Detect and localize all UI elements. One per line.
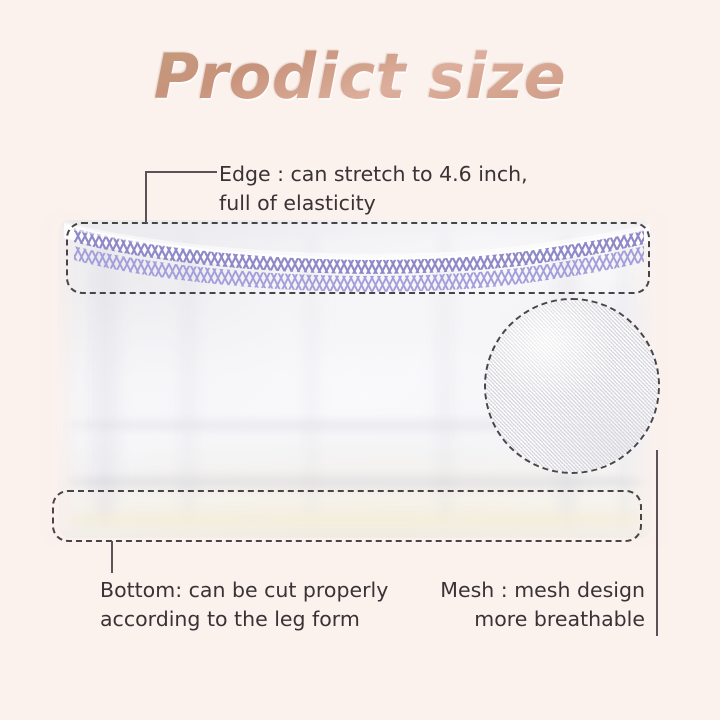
infographic-canvas: Prodict size — [0, 0, 720, 720]
mesh-callout-label: Mesh : mesh design more breathable — [400, 576, 645, 634]
mesh-zoom-circle — [484, 298, 660, 474]
bottom-callout-label: Bottom: can be cut properly according to… — [100, 576, 430, 634]
edge-callout-box — [66, 222, 650, 294]
edge-leader-line-vertical — [145, 171, 147, 223]
bottom-callout-box — [52, 490, 642, 542]
edge-leader-line-horizontal — [145, 171, 217, 173]
edge-callout-label: Edge : can stretch to 4.6 inch, full of … — [219, 160, 549, 218]
mesh-leader-line-vertical — [656, 450, 658, 636]
page-title-container: Prodict size — [0, 44, 720, 109]
page-title: Prodict size — [154, 44, 567, 109]
bottom-leader-line-vertical — [111, 541, 113, 573]
mesh-sheen — [486, 300, 658, 472]
